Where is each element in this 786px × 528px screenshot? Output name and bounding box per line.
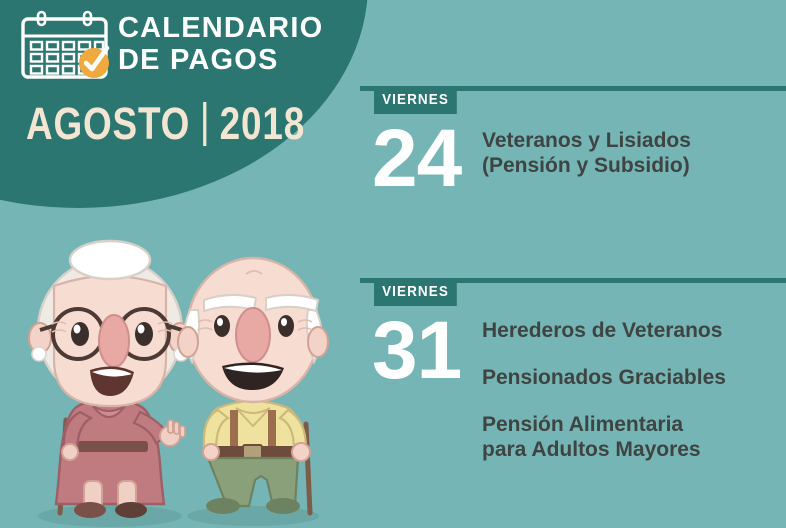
weekday-badge: VIERNES [374,278,457,306]
benefit-line: Pensionados Graciables [482,365,782,390]
payment-calendar-poster: CALENDARIO DE PAGOS AGOSTO 2018 VIERNES … [0,0,786,528]
month-year-label: AGOSTO 2018 [26,98,305,150]
payment-entry-24: VIERNES 24 Veteranos y Lisiados (Pensión… [360,86,786,226]
elderly-couple-illustration [18,238,348,528]
page-title-line2: DE PAGOS [118,44,323,76]
benefit-line: para Adultos Mayores [482,437,782,462]
benefit-line: Veteranos y Lisiados [482,128,782,153]
benefit-line: Herederos de Veteranos [482,318,782,343]
month-label: AGOSTO [26,98,190,150]
list-item: Veteranos y Lisiados (Pensión y Subsidio… [482,128,782,178]
year-label: 2018 [220,98,305,150]
entry-benefits-list: Veteranos y Lisiados (Pensión y Subsidio… [482,128,782,178]
calendar-check-icon [18,10,114,80]
day-number: 24 [372,118,461,200]
list-item: Pensionados Graciables [482,365,782,390]
benefit-line: (Pensión y Subsidio) [482,153,782,178]
payment-entry-31: VIERNES 31 Herederos de Veteranos Pensio… [360,278,786,508]
page-title: CALENDARIO DE PAGOS [118,12,323,76]
benefit-line: Pensión Alimentaria [482,412,782,437]
day-number: 31 [372,310,461,392]
list-item: Herederos de Veteranos [482,318,782,343]
page-title-line1: CALENDARIO [118,12,323,44]
entry-benefits-list: Herederos de Veteranos Pensionados Graci… [482,318,782,462]
month-year-separator [203,102,206,146]
list-item: Pensión Alimentaria para Adultos Mayores [482,412,782,462]
weekday-badge: VIERNES [374,86,457,114]
